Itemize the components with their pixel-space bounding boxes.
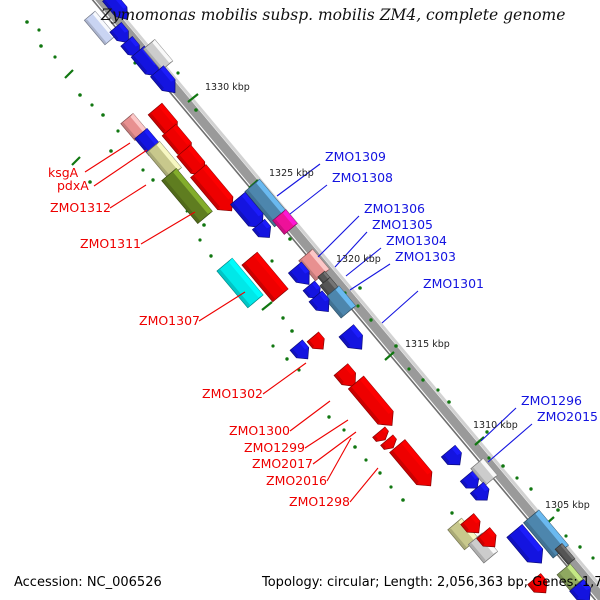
ruler-tick-label: 1315 kbp [405,339,450,350]
gene-label-zmo1304[interactable]: ZMO1304 [386,233,447,248]
gene-label-pdxa[interactable]: pdxA [57,178,89,193]
ruler-tick-label: 1320 kbp [336,254,381,265]
gene-label-zmo1303[interactable]: ZMO1303 [395,249,456,264]
gene-label-zmo1306[interactable]: ZMO1306 [364,201,425,216]
gene-label-zmo1299[interactable]: ZMO1299 [244,440,305,455]
gene-label-zmo2016[interactable]: ZMO2016 [266,473,327,488]
gene-label-zmo1301[interactable]: ZMO1301 [423,276,484,291]
gene-label-zmo1296[interactable]: ZMO1296 [521,393,582,408]
genome-summary-text: Topology: circular; Length: 2,056,363 bp… [261,575,600,590]
gene-label-zmo1300[interactable]: ZMO1300 [229,423,290,438]
genome-map-canvas[interactable]: ksgApdxAZMO1312ZMO1311ZMO1307ZMO1302ZMO1… [0,0,600,600]
gene-label-zmo1308[interactable]: ZMO1308 [332,170,393,185]
gene-label-zmo1311[interactable]: ZMO1311 [80,236,141,251]
gene-label-zmo1309[interactable]: ZMO1309 [325,149,386,164]
gene-label-zmo2015[interactable]: ZMO2015 [537,409,598,424]
ruler-tick-label: 1310 kbp [473,420,518,431]
gene-label-zmo1302[interactable]: ZMO1302 [202,386,263,401]
gene-label-zmo2017[interactable]: ZMO2017 [252,456,313,471]
ruler-tick-label: 1305 kbp [545,500,590,511]
gene-label-zmo1298[interactable]: ZMO1298 [289,494,350,509]
gene-label-zmo1305[interactable]: ZMO1305 [372,217,433,232]
gene-label-zmo1312[interactable]: ZMO1312 [50,200,111,215]
gene-label-zmo1307[interactable]: ZMO1307 [139,313,200,328]
canvas-background [0,0,600,600]
ruler-tick-label: 1330 kbp [205,82,250,93]
page-title: Zymomonas mobilis subsp. mobilis ZM4, co… [100,6,565,24]
genome-viewer: ksgApdxAZMO1312ZMO1311ZMO1307ZMO1302ZMO1… [0,0,600,600]
accession-text: Accession: NC_006526 [14,575,162,590]
ruler-tick-label: 1325 kbp [269,168,314,179]
